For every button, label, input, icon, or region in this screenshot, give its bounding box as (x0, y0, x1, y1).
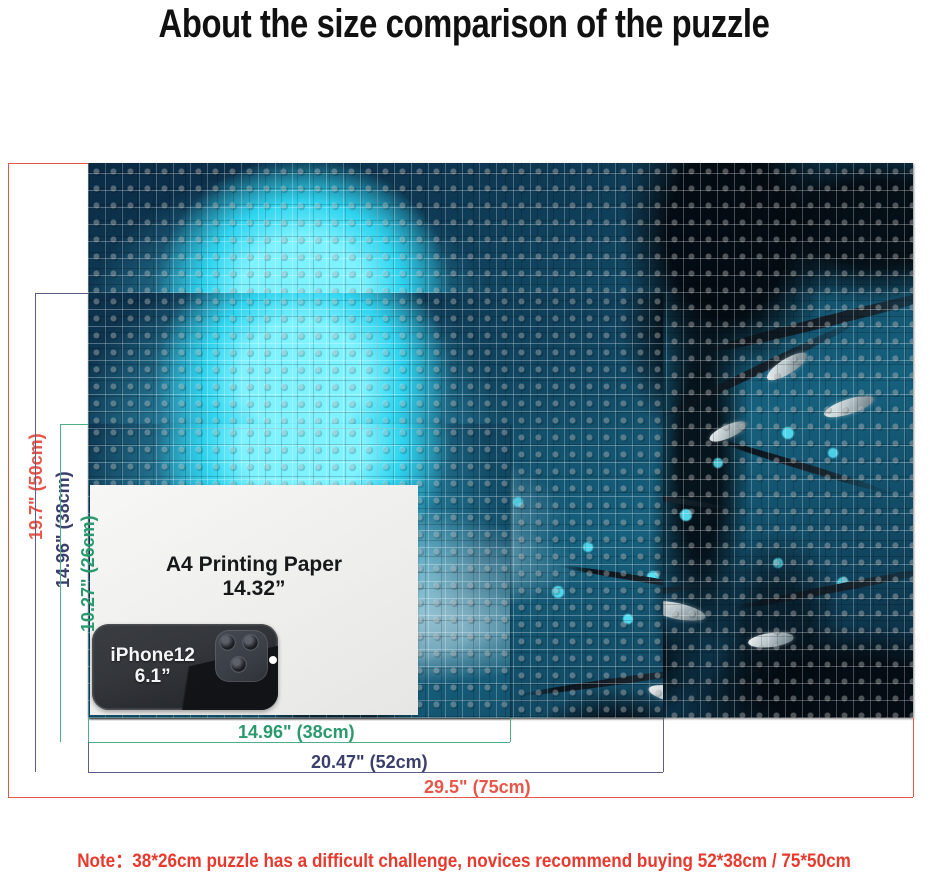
camera-lens-icon (230, 656, 247, 673)
camera-lens-icon (219, 634, 236, 651)
dimension-tick-right-large (913, 718, 914, 797)
dimension-line-vertical-small (60, 424, 61, 742)
dimension-line-vertical-medium (35, 293, 36, 772)
a4-paper-size: 14.32” (90, 577, 418, 601)
dimension-tick-top-medium (35, 293, 88, 294)
a4-paper-labels: A4 Printing Paper 14.32” (90, 553, 418, 600)
dimension-tick-top-small (60, 424, 88, 425)
iphone-size: 6.1” (98, 667, 207, 688)
camera-flash-icon (269, 656, 277, 664)
dimension-label-vertical-small: 10.27" (26cm) (78, 515, 99, 632)
dimension-label-vertical-medium: 14.96" (38cm) (53, 471, 74, 588)
iphone-labels: iPhone12 6.1” (98, 646, 207, 688)
size-comparison-infographic: About the size comparison of the puzzle (0, 0, 928, 882)
camera-module-icon (215, 630, 268, 682)
a4-paper-name: A4 Printing Paper (90, 553, 418, 577)
camera-lens-icon (242, 634, 259, 651)
page-title: About the size comparison of the puzzle (84, 2, 845, 47)
footer-note: Note：38*26cm puzzle has a difficult chal… (46, 846, 881, 873)
dimension-tick-right-small (510, 718, 511, 742)
dimension-tick-right-medium (663, 718, 664, 772)
iphone-name: iPhone12 (98, 646, 207, 667)
dimension-label-horizontal-medium: 20.47" (52cm) (311, 752, 428, 773)
iphone-reference: iPhone12 6.1” (92, 624, 278, 710)
dimension-label-horizontal-small: 14.96" (38cm) (238, 722, 355, 743)
dimension-label-horizontal-large: 29.5" (75cm) (424, 777, 531, 798)
dimension-tick-top-large (8, 163, 88, 164)
dimension-line-vertical-large (8, 163, 9, 797)
dimension-tick-left-medium (88, 742, 89, 772)
dimension-tick-left-small (88, 718, 89, 742)
dimension-label-vertical-large: 19.7" (50cm) (26, 433, 47, 540)
